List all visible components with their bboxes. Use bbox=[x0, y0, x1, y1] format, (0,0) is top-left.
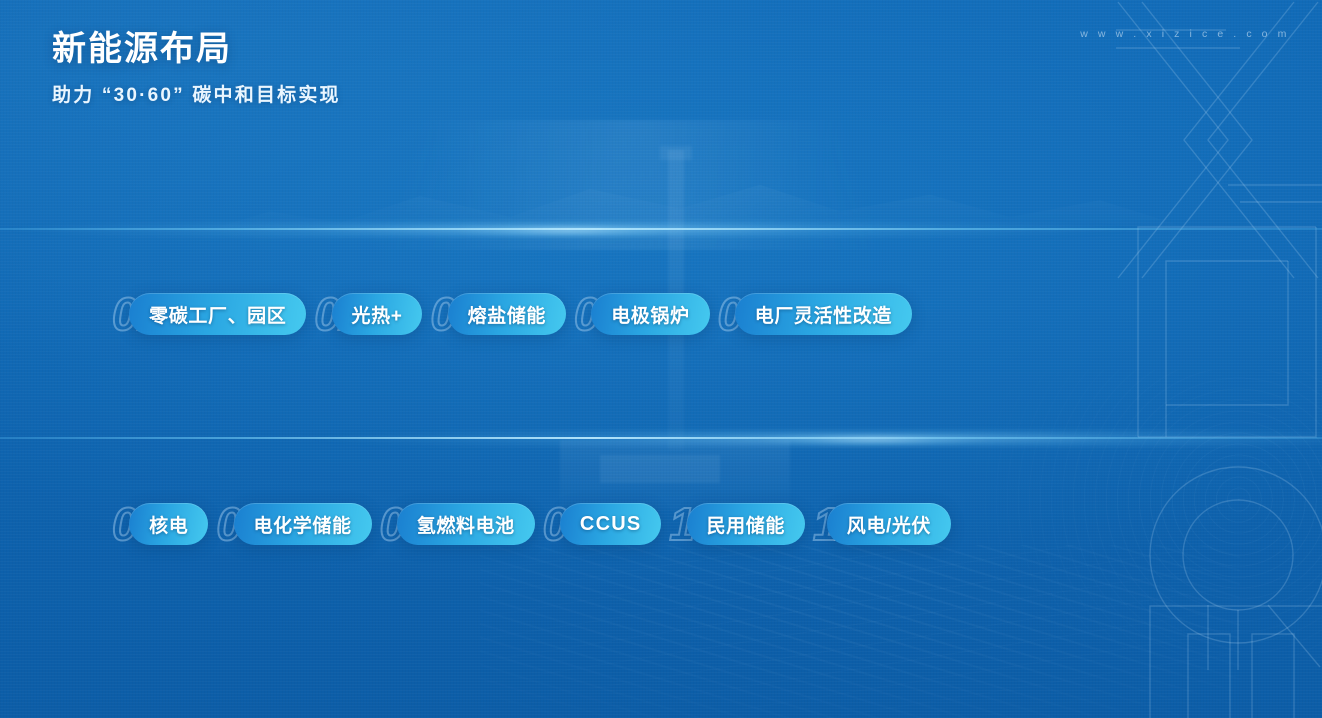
category-pill[interactable]: 电极锅炉 bbox=[591, 293, 709, 335]
category-item[interactable]: 04电极锅炉 bbox=[574, 288, 710, 340]
letter-x-outline-icon bbox=[1108, 0, 1322, 290]
category-pill[interactable]: 核电 bbox=[129, 503, 208, 545]
header-block: 新能源布局 助力 “30·60” 碳中和目标实现 bbox=[52, 28, 341, 107]
letter-u-outline-icon bbox=[1140, 600, 1322, 718]
category-pill[interactable]: CCUS bbox=[560, 503, 661, 545]
category-pill[interactable]: 电化学储能 bbox=[234, 503, 372, 545]
category-item[interactable]: 09CCUS bbox=[543, 498, 662, 550]
category-item[interactable]: 02光热+ bbox=[314, 288, 422, 340]
category-pill[interactable]: 电厂灵活性改造 bbox=[735, 293, 912, 335]
category-item[interactable]: 07电化学储能 bbox=[216, 498, 371, 550]
category-item[interactable]: 06核电 bbox=[112, 498, 208, 550]
category-item[interactable]: 11风电/光伏 bbox=[813, 498, 951, 550]
category-pill[interactable]: 风电/光伏 bbox=[827, 503, 951, 545]
solar-panel-field bbox=[480, 545, 1240, 718]
category-row-1: 01零碳工厂、园区02光热+03熔盐储能04电极锅炉05电厂灵活性改造 bbox=[0, 288, 1322, 340]
category-item[interactable]: 01零碳工厂、园区 bbox=[112, 288, 306, 340]
category-row-2: 06核电07电化学储能08氢燃料电池09CCUS10民用储能11风电/光伏 bbox=[0, 498, 1322, 550]
category-item[interactable]: 10民用储能 bbox=[669, 498, 805, 550]
noise-texture bbox=[0, 0, 1322, 718]
site-watermark: w w w . x i z i c e . c o m bbox=[1080, 28, 1290, 40]
glow-divider-bottom bbox=[0, 437, 1322, 439]
background-photo bbox=[0, 0, 1322, 718]
category-pill[interactable]: 光热+ bbox=[332, 293, 423, 335]
category-item[interactable]: 05电厂灵活性改造 bbox=[718, 288, 912, 340]
glow-divider-top bbox=[0, 228, 1322, 230]
category-pill[interactable]: 熔盐储能 bbox=[448, 293, 566, 335]
slide-canvas: 新能源布局 助力 “30·60” 碳中和目标实现 w w w . x i z i… bbox=[0, 0, 1322, 718]
category-pill[interactable]: 零碳工厂、园区 bbox=[129, 293, 306, 335]
page-title: 新能源布局 bbox=[52, 28, 341, 70]
category-item[interactable]: 08氢燃料电池 bbox=[380, 498, 535, 550]
letter-q-outline-icon bbox=[1120, 455, 1322, 685]
page-subtitle: 助力 “30·60” 碳中和目标实现 bbox=[52, 80, 341, 107]
category-pill[interactable]: 民用储能 bbox=[687, 503, 805, 545]
power-plant-block bbox=[600, 455, 720, 483]
category-pill[interactable]: 氢燃料电池 bbox=[397, 503, 535, 545]
category-item[interactable]: 03熔盐储能 bbox=[430, 288, 566, 340]
tower-cap bbox=[660, 146, 692, 160]
